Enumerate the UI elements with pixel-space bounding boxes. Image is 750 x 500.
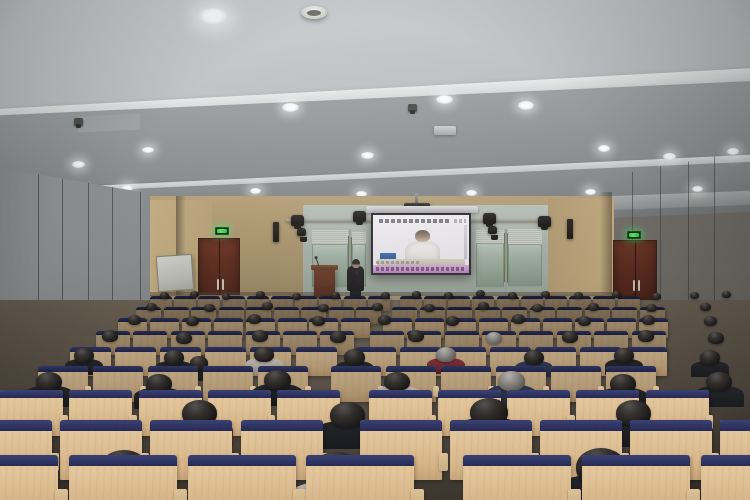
- audience-member-head: [722, 291, 731, 298]
- exit-sign-right-icon: [627, 231, 641, 239]
- ceiling-downlight-icon: [250, 188, 261, 194]
- audience-member-head: [444, 292, 453, 299]
- stage-light-icon[interactable]: [291, 215, 304, 226]
- ceiling-downlight-icon: [282, 103, 299, 112]
- audience-member-head: [612, 291, 621, 298]
- audience-member-head: [446, 316, 459, 326]
- audience-member-head: [248, 314, 261, 324]
- audience-member-head: [706, 372, 732, 391]
- audience-member-head: [344, 349, 365, 365]
- seat-armrest: [411, 489, 424, 500]
- audience-member-head: [252, 330, 268, 342]
- auditorium-seat[interactable]: [188, 455, 296, 500]
- stage-light-icon[interactable]: [538, 216, 551, 227]
- audience-member-head: [176, 332, 192, 344]
- auditorium-seat[interactable]: [701, 455, 750, 500]
- audience-member-head: [478, 302, 489, 310]
- ceiling-camera-icon-right: [408, 104, 417, 112]
- audience-member-head: [102, 330, 118, 342]
- audience-member-head: [318, 304, 329, 312]
- slide-ticker-bar: [373, 265, 469, 273]
- seat-armrest: [568, 489, 581, 500]
- window-blind[interactable]: [352, 232, 366, 245]
- ceiling-downlight-icon: [142, 147, 154, 153]
- audience-member-head: [381, 292, 390, 299]
- audience-member-head: [190, 291, 199, 298]
- slide-ticker-text: [376, 267, 466, 271]
- slide-sidebar: [464, 225, 467, 259]
- stage-light-icon[interactable]: [488, 226, 497, 234]
- ceiling-downlight-icon: [72, 161, 85, 168]
- slide-badge: [380, 253, 396, 259]
- audience-member-head: [690, 292, 699, 299]
- ceiling-vent-icon: [434, 126, 456, 135]
- audience-member-head: [498, 371, 525, 391]
- ceiling-downlight-icon: [518, 101, 534, 110]
- audience-member-head: [146, 303, 157, 311]
- audience-member-head: [384, 372, 410, 391]
- auditorium-seat[interactable]: [582, 455, 690, 500]
- podium-top: [311, 265, 338, 270]
- audience-member-head: [700, 303, 711, 311]
- audience-member-head: [574, 292, 583, 299]
- projection-screen[interactable]: [371, 213, 471, 275]
- wall-speaker-left: [273, 222, 279, 242]
- audience-member-head: [512, 314, 525, 324]
- audience-member-head: [708, 332, 724, 344]
- stage-light-icon[interactable]: [483, 213, 496, 224]
- audience-member-head: [524, 350, 544, 365]
- audience-member-head: [372, 303, 383, 311]
- audience-member-head: [164, 350, 184, 365]
- screen-roller-housing: [366, 206, 478, 213]
- audience-member-head: [378, 315, 391, 325]
- ceiling-downlight-icon: [198, 8, 228, 25]
- audience-member-head: [614, 348, 634, 363]
- projection-screen-surface: [373, 215, 469, 273]
- ceiling-downlight-icon: [361, 152, 374, 159]
- whiteboard[interactable]: [156, 254, 194, 292]
- audience-member-head: [186, 316, 199, 326]
- audience-member-head: [476, 290, 485, 297]
- audience-member-head: [436, 347, 456, 362]
- auditorium-seat[interactable]: [0, 455, 58, 500]
- seat-armrest: [55, 489, 68, 500]
- audience-member-head: [646, 304, 657, 312]
- stage-light-icon[interactable]: [297, 228, 306, 236]
- audience-member-head: [532, 304, 543, 312]
- ceiling-camera-icon-left: [74, 118, 83, 126]
- slide-lower-third-text: [376, 261, 420, 264]
- audience-member-head: [204, 304, 215, 312]
- window-blind[interactable]: [312, 230, 348, 245]
- auditorium-seat[interactable]: [463, 455, 571, 500]
- audience-member-head: [74, 348, 94, 363]
- audience-member-head: [264, 370, 291, 390]
- ceiling-downlight-icon: [663, 153, 676, 160]
- exit-sign-left-icon: [215, 227, 229, 235]
- auditorium-seat[interactable]: [69, 455, 177, 500]
- smoke-detector-icon: [301, 6, 327, 19]
- audience-member-head: [424, 304, 435, 312]
- seat-armrest: [293, 489, 306, 500]
- audience-member-head: [588, 303, 599, 311]
- audience-member-head: [408, 330, 424, 342]
- ceiling-downlight-icon: [585, 189, 596, 195]
- audience-member-head: [331, 292, 340, 299]
- audience-member-head: [36, 372, 62, 391]
- audience-member-head: [700, 350, 720, 365]
- seat-armrest: [439, 453, 449, 471]
- window-blind[interactable]: [508, 229, 542, 245]
- audience-member-head: [292, 293, 301, 300]
- audience-member-head: [508, 292, 517, 299]
- audience-member-head: [412, 291, 421, 298]
- audience-member-head: [704, 316, 717, 326]
- audience-member-head: [222, 293, 230, 300]
- audience-member-head: [642, 315, 655, 325]
- ceiling-downlight-icon: [436, 95, 453, 104]
- wall-corner-shadow-right: [600, 192, 612, 308]
- audience-member-head: [541, 291, 550, 298]
- audience-member-head: [486, 332, 502, 344]
- slide-headline-text: [379, 219, 450, 223]
- slide-headline-secondary: [454, 219, 466, 222]
- audience-member-head: [254, 347, 274, 362]
- audience-member-head: [578, 316, 591, 326]
- wall-speaker-right: [567, 219, 573, 239]
- audience-member-head: [256, 291, 265, 298]
- auditorium-seat[interactable]: [306, 455, 414, 500]
- audience-member-head: [262, 302, 273, 310]
- audience-member-head: [128, 315, 141, 325]
- slide-person-head: [415, 230, 429, 242]
- presenter-head: [352, 259, 360, 268]
- audience-member-head: [312, 316, 325, 326]
- audience-member-head: [160, 292, 169, 299]
- audience-member-head: [652, 293, 661, 300]
- auditorium-photo: [0, 0, 750, 500]
- ceiling-downlight-icon: [598, 145, 610, 152]
- stage-light-icon[interactable]: [353, 211, 366, 222]
- ceiling-access-panel: [78, 114, 141, 133]
- handheld-microphone-icon: [356, 270, 358, 275]
- audience-member-head: [638, 330, 654, 342]
- audience-member-head: [562, 331, 578, 343]
- audience-member-head: [330, 331, 346, 343]
- seat-armrest: [174, 489, 187, 500]
- seat-armrest: [687, 489, 700, 500]
